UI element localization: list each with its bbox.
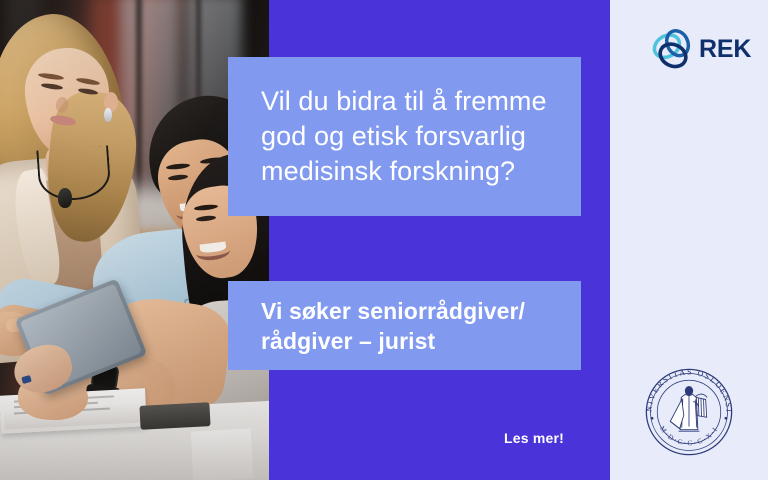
headline-text: Vil du bidra til å fremme god og etisk f… (228, 84, 581, 189)
keyboard (139, 402, 210, 430)
rek-wordmark: REK (699, 37, 751, 62)
woman-left-pendant (58, 188, 72, 208)
rek-interlocking-rings-icon (650, 28, 696, 72)
laptop (191, 428, 254, 480)
headline-callout-box: Vil du bidra til å fremme god og etisk f… (228, 57, 581, 216)
uio-seal: UNIVERSITAS OSLOENSIS M·D·C·C·C·X·I (637, 360, 741, 464)
read-more-link[interactable]: Les mer! (504, 430, 564, 446)
subheadline-text: Vi søker seniorrådgiver/ rådgiver – juri… (228, 296, 581, 356)
campaign-banner: Vil du bidra til å fremme god og etisk f… (0, 0, 768, 480)
rek-logo[interactable]: REK (650, 27, 742, 72)
subheadline-callout-box: Vi søker seniorrådgiver/ rådgiver – juri… (228, 281, 581, 370)
woman-left-earring (104, 108, 112, 122)
apollo-with-lyre-figure (670, 386, 707, 431)
